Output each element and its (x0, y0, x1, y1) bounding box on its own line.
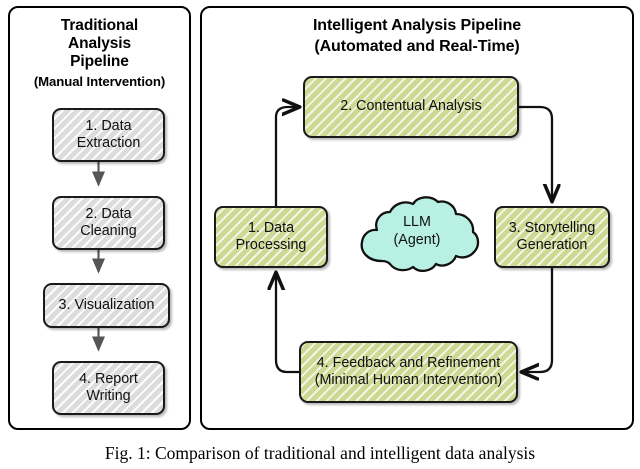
node-visualization-label-1: 3. Visualization (55, 297, 159, 314)
intelligent-panel-title: Intelligent Analysis Pipeline (202, 17, 632, 36)
node-data-processing-label-1: 1. Data (232, 220, 311, 237)
node-storytelling-generation[interactable]: 3. Storytelling Generation (494, 206, 610, 268)
node-data-processing-label-2: Processing (232, 237, 311, 254)
intelligent-panel-subtitle: (Automated and Real-Time) (202, 38, 632, 57)
node-storytelling-generation-label-1: 3. Storytelling (505, 220, 600, 237)
node-data-cleaning[interactable]: 2. Data Cleaning (52, 196, 165, 250)
traditional-panel-subtitle: (Manual Intervention) (10, 74, 189, 89)
traditional-title-line-2: Analysis (10, 35, 189, 53)
node-visualization[interactable]: 3. Visualization (43, 283, 170, 328)
traditional-title-line-3: Pipeline (10, 53, 189, 71)
node-storytelling-generation-label-2: Generation (505, 237, 600, 254)
node-data-extraction-label-1: 1. Data (73, 118, 145, 135)
traditional-title-line-1: Traditional (10, 17, 189, 35)
node-data-processing[interactable]: 1. Data Processing (214, 206, 328, 268)
node-feedback-refinement-label-1: 4. Feedback and Refinement (311, 355, 507, 372)
figure-container: Traditional Analysis Pipeline (Manual In… (0, 0, 640, 469)
llm-agent-cloud[interactable]: LLM (Agent) (352, 193, 482, 280)
node-contentual-analysis[interactable]: 2. Contentual Analysis (303, 76, 519, 138)
traditional-panel-title: Traditional Analysis Pipeline (10, 17, 189, 71)
node-feedback-refinement[interactable]: 4. Feedback and Refinement (Minimal Huma… (299, 341, 518, 403)
node-report-writing-label-2: Writing (75, 388, 142, 405)
figure-caption: Fig. 1: Comparison of traditional and in… (0, 443, 640, 464)
node-contentual-analysis-label-1: 2. Contentual Analysis (336, 98, 485, 115)
cloud-icon (352, 193, 482, 280)
node-report-writing-label-1: 4. Report (75, 371, 142, 388)
node-data-cleaning-label-2: Cleaning (76, 223, 140, 240)
node-feedback-refinement-label-2: (Minimal Human Intervention) (311, 372, 507, 389)
node-data-extraction-label-2: Extraction (73, 135, 145, 152)
node-data-cleaning-label-1: 2. Data (76, 206, 140, 223)
node-report-writing[interactable]: 4. Report Writing (52, 361, 165, 415)
panel-traditional-pipeline: Traditional Analysis Pipeline (Manual In… (8, 6, 191, 430)
node-data-extraction[interactable]: 1. Data Extraction (52, 108, 165, 162)
